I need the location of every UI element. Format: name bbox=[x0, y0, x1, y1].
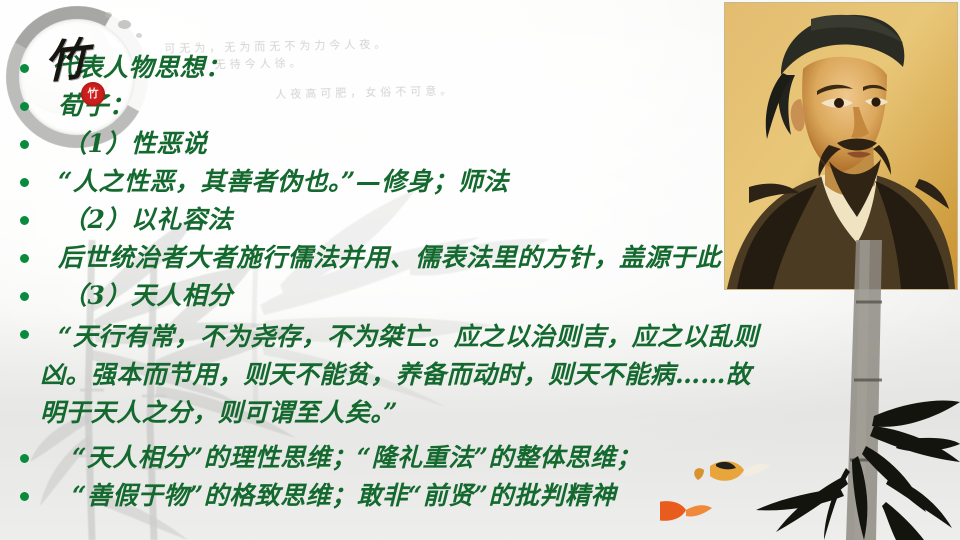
quotation-line: 明于天人之分，则可谓至人矣。” bbox=[40, 394, 759, 432]
brush-character-zhu: 竹 bbox=[44, 38, 88, 87]
bullet-marker bbox=[20, 292, 29, 301]
bullet-marker bbox=[20, 454, 29, 463]
bullet-marker bbox=[20, 216, 29, 225]
bullet-marker bbox=[20, 102, 29, 111]
bullet-marker bbox=[20, 492, 29, 501]
text-line-4: “人之性恶，其善者伪也。”—修身；师法 bbox=[58, 166, 509, 197]
bullet-marker bbox=[20, 64, 29, 73]
red-seal-stamp: 竹 bbox=[81, 82, 105, 106]
bullet-marker bbox=[20, 178, 29, 187]
text-line-6: 后世统治者大者施行儒法并用、儒表法里的方针，盖源于此 bbox=[58, 242, 721, 273]
bullet-marker bbox=[20, 254, 29, 263]
text-line-5: （2）以礼容法 bbox=[62, 204, 233, 235]
text-line-9: “天人相分”的理性思维；“隆礼重法”的整体思维； bbox=[72, 442, 642, 473]
bullet-marker bbox=[20, 140, 29, 149]
quotation-paragraph: “天行有常，不为尧存，不为桀亡。应之以治则吉，应之以乱则 凶。强本而节用，则天不… bbox=[58, 318, 759, 432]
bullet-marker bbox=[20, 330, 29, 339]
slide-text-content: 代表人物思想： 荀子： （1）性恶说 “人之性恶，其善者伪也。”—修身；师法 （… bbox=[0, 0, 960, 540]
text-line-7: （3）天人相分 bbox=[62, 280, 233, 311]
text-line-3: （1）性恶说 bbox=[62, 128, 207, 159]
quotation-line: 凶。强本而节用，则天不能贫，养备而动时，则天不能病……故 bbox=[40, 356, 759, 394]
quotation-line: “天行有常，不为尧存，不为桀亡。应之以治则吉，应之以乱则 bbox=[58, 318, 759, 356]
slide-canvas: 可无为，无为而无不为力今人夜。 无待今人徐。 人夜高可肥，女俗不可意。 bbox=[0, 0, 960, 540]
text-line-10: “善假于物”的格致思维；敢非“前贤”的批判精神 bbox=[72, 480, 616, 511]
